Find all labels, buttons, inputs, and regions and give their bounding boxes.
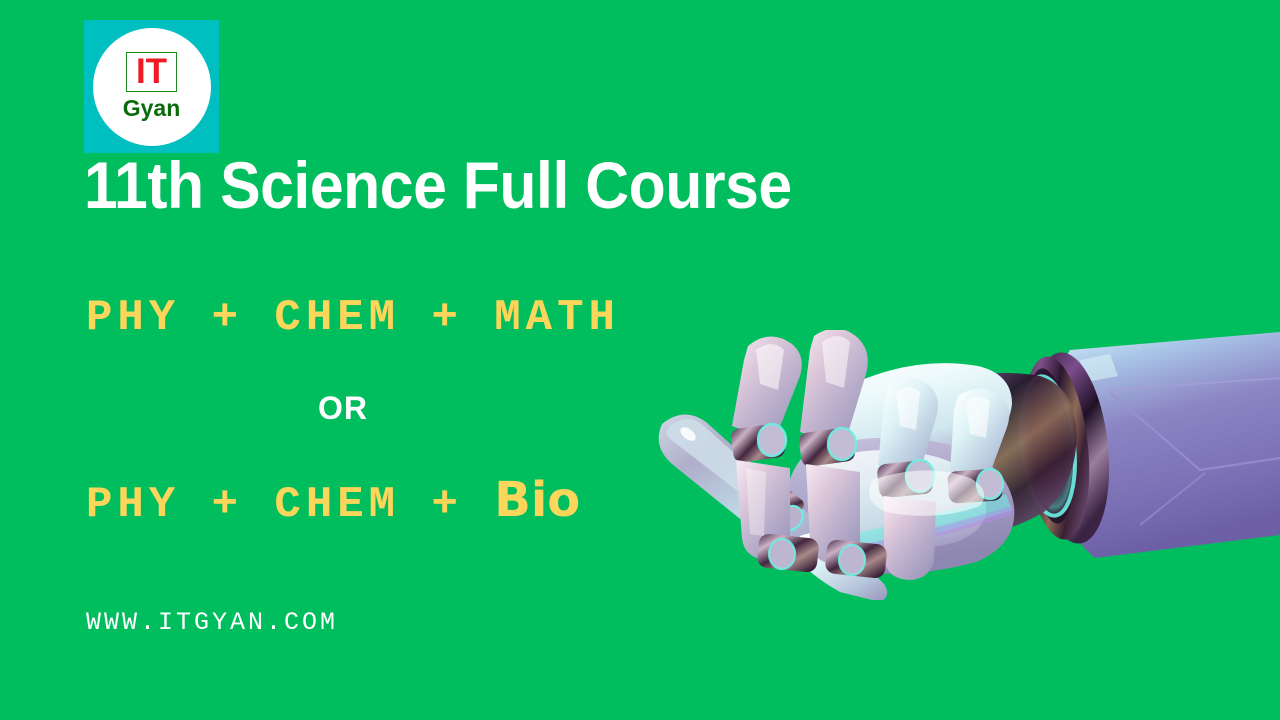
palm-body [786,437,1014,573]
knuckle-cluster [756,533,887,579]
logo-it-box: IT [126,52,177,92]
page-title: 11th Science Full Course [84,150,792,221]
website-url: WWW.ITGYAN.COM [86,610,338,635]
wrist-ring-inner [1015,353,1098,543]
finger-pinky [947,388,1009,503]
wrist-ring-outer [1022,349,1118,548]
logo-it-text: IT [136,53,167,90]
subject-option-two-prefix: PHY + CHEM + [86,480,494,530]
option-separator: OR [318,392,368,424]
subject-option-two-highlight: Bio [494,472,580,528]
logo-gyan-text: Gyan [123,95,181,121]
subject-option-one: PHY + CHEM + MATH [86,296,620,340]
thumb [659,414,888,600]
logo-circle: IT Gyan [93,28,211,146]
hand-back-chrome [866,373,1077,538]
brand-logo[interactable]: IT Gyan [84,20,219,153]
finger-index [730,336,802,560]
finger-ring [876,378,938,580]
palm-upper [822,363,1012,469]
subject-option-two: PHY + CHEM + Bio [86,476,580,527]
finger-middle [798,330,868,564]
forearm-shape [1048,332,1280,558]
robotic-hand-icon [640,330,1280,600]
poster-canvas: IT Gyan 11th Science Full Course PHY + C… [0,0,1280,720]
